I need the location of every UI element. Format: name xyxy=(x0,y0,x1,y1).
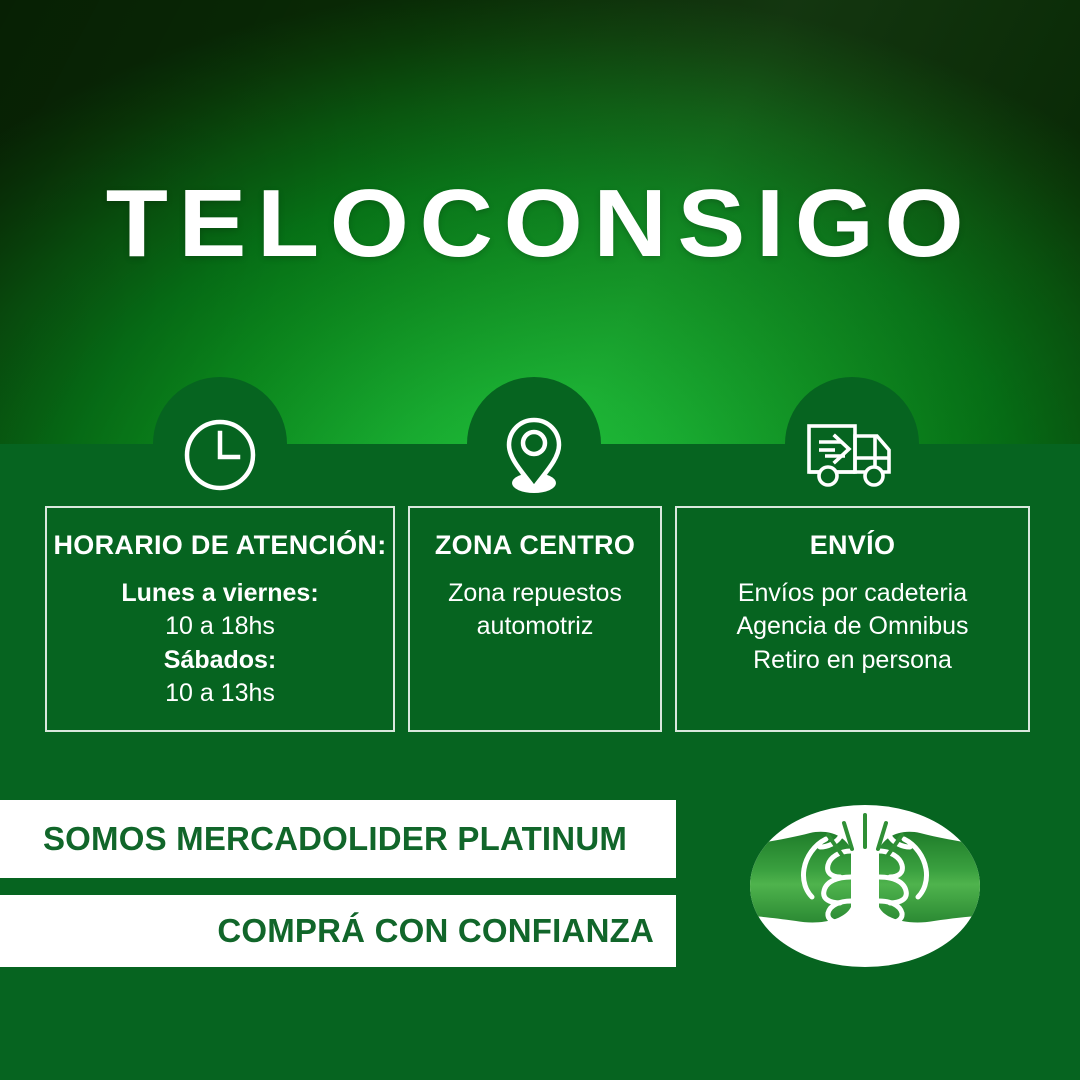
card-line: 10 a 13hs xyxy=(47,677,393,710)
brand-wordmark: TELOCONSIGO xyxy=(0,176,1080,272)
brand-text: TELOCONSIGO xyxy=(106,176,975,272)
card-title: ZONA CENTRO xyxy=(410,530,660,561)
card-line: Retiro en persona xyxy=(677,644,1028,677)
location-pin-icon-container xyxy=(467,400,601,510)
banner-mercadolider: SOMOS MERCADOLIDER PLATINUM xyxy=(0,800,676,878)
banner-top-text: SOMOS MERCADOLIDER PLATINUM xyxy=(43,820,627,858)
card-line: Sábados: xyxy=(47,644,393,677)
fist-bump-logo xyxy=(748,803,982,969)
location-pin-icon xyxy=(496,414,572,496)
delivery-truck-icon-container xyxy=(785,400,919,510)
clock-icon xyxy=(182,417,258,493)
card-line: Zona repuestos xyxy=(410,577,660,610)
card-title: ENVÍO xyxy=(677,530,1028,561)
card-line: 10 a 18hs xyxy=(47,610,393,643)
promo-poster: TELOCONSIGO xyxy=(0,0,1080,1080)
card-zona: ZONA CENTRO Zona repuestos automotriz xyxy=(408,506,662,732)
card-horario: HORARIO DE ATENCIÓN: Lunes a viernes: 10… xyxy=(45,506,395,732)
banner-bottom-text: COMPRÁ CON CONFIANZA xyxy=(217,912,654,950)
banner-confianza: COMPRÁ CON CONFIANZA xyxy=(0,895,676,967)
card-line: automotriz xyxy=(410,610,660,643)
card-title: HORARIO DE ATENCIÓN: xyxy=(47,530,393,561)
card-envio: ENVÍO Envíos por cadeteria Agencia de Om… xyxy=(675,506,1030,732)
card-line: Agencia de Omnibus xyxy=(677,610,1028,643)
card-line: Lunes a viernes: xyxy=(47,577,393,610)
clock-icon-container xyxy=(153,400,287,510)
delivery-truck-icon xyxy=(805,418,899,492)
card-line: Envíos por cadeteria xyxy=(677,577,1028,610)
